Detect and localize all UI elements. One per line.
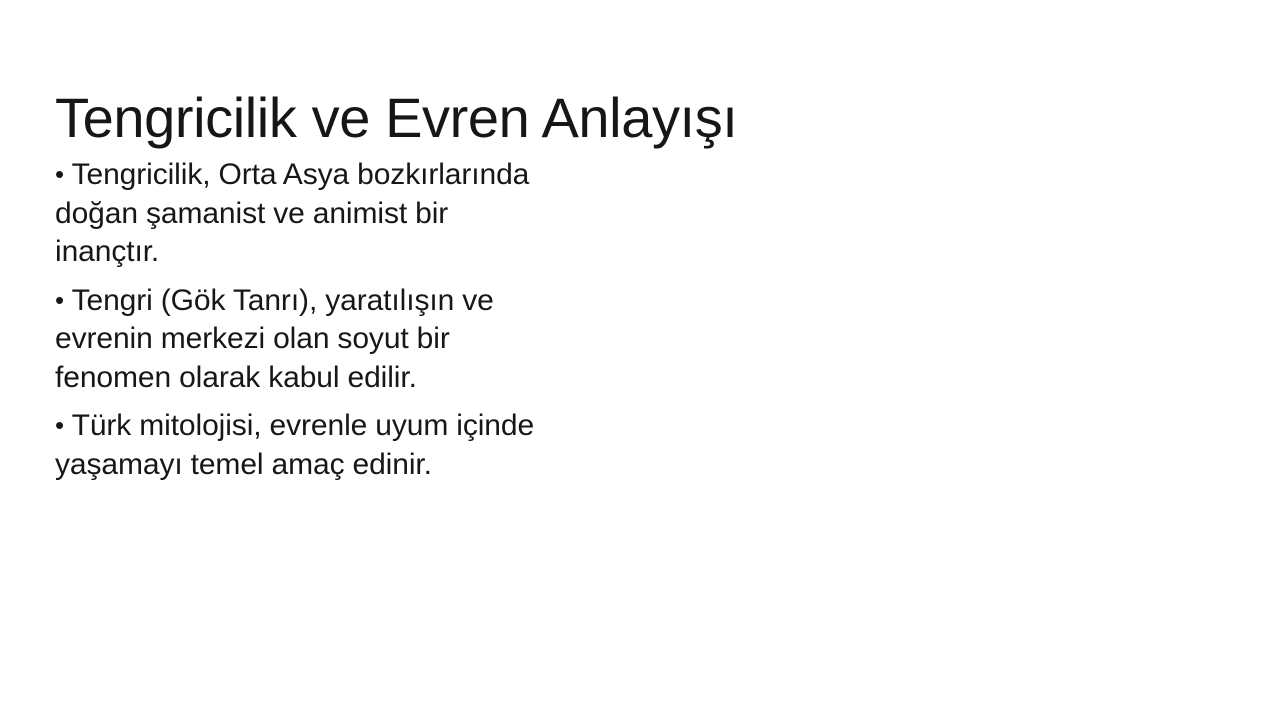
slide-canvas: Tengricilik ve Evren Anlayışı • Tengrici… [0,0,1280,720]
slide-body: • Tengricilik, Orta Asya bozkırlarında d… [55,155,555,484]
bullet-point-icon: • [55,159,64,189]
bullet-item-text: Türk mitolojisi, evrenle uyum içinde yaş… [55,409,534,481]
bullet-item: • Türk mitolojisi, evrenle uyum içinde y… [55,406,555,484]
bullet-item: • Tengri (Gök Tanrı), yaratılışın ve evr… [55,281,555,398]
bullet-item-text: Tengri (Gök Tanrı), yaratılışın ve evren… [55,284,494,394]
bullet-item: • Tengricilik, Orta Asya bozkırlarında d… [55,155,555,272]
bullet-point-icon: • [55,410,64,440]
bullet-item-text: Tengricilik, Orta Asya bozkırlarında doğ… [55,158,529,268]
bullet-point-icon: • [55,285,64,315]
page-title: Tengricilik ve Evren Anlayışı [55,85,1225,151]
